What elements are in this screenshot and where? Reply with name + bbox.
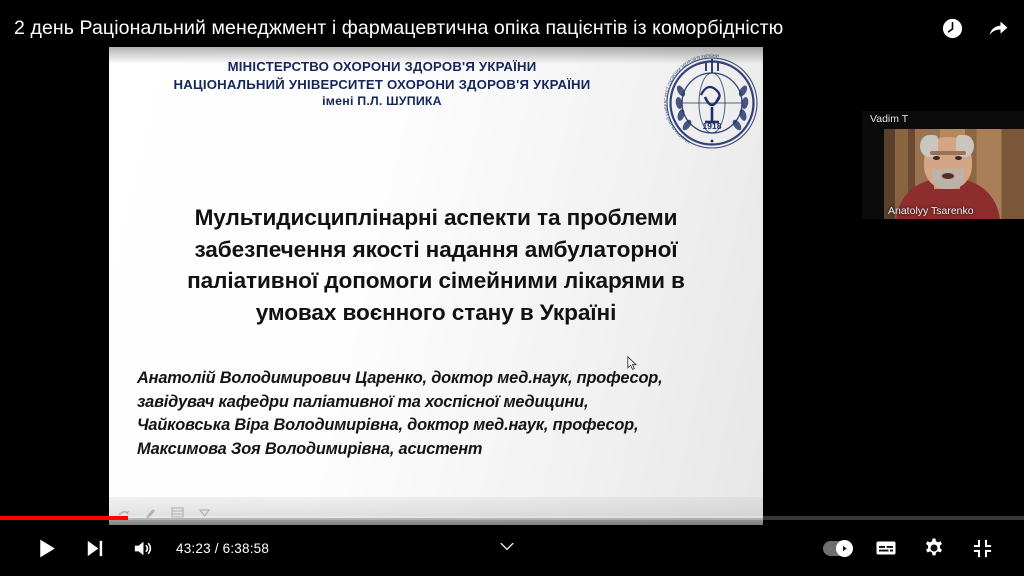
time-display: 43:23 / 6:38:58: [176, 541, 269, 556]
slide-title-line: умовах воєнного стану в Україні: [125, 297, 747, 329]
slide-title-line: забезпечення якості надання амбулаторної: [125, 234, 747, 266]
slide-author-line: Чайковська Віра Володимирівна, доктор ме…: [137, 414, 737, 438]
play-button[interactable]: [22, 530, 70, 566]
progress-played: [0, 516, 128, 520]
mouse-cursor: [627, 356, 638, 376]
next-video-button[interactable]: [70, 530, 118, 566]
player-controls-bar: 43:23 / 6:38:58: [0, 518, 1024, 576]
subtitles-button[interactable]: [862, 530, 910, 566]
slide-header: МІНІСТЕРСТВО ОХОРОНИ ЗДОРОВ'Я УКРАЇНИ НА…: [109, 58, 655, 111]
slide-title-line: Мультидисциплінарні аспекти та проблеми: [125, 202, 747, 234]
slide-author-line: Анатолій Володимирович Царенко, доктор м…: [137, 367, 737, 391]
slide-title: Мультидисциплінарні аспекти та проблеми …: [125, 202, 747, 328]
chevron-down-icon[interactable]: [497, 536, 517, 561]
slide-header-line2: НАЦІОНАЛЬНИЙ УНІВЕРСИТЕТ ОХОРОНИ ЗДОРОВ'…: [109, 76, 655, 94]
watch-later-icon[interactable]: [936, 12, 968, 44]
slide-authors: Анатолій Володимирович Царенко, доктор м…: [137, 367, 737, 461]
mute-button[interactable]: [118, 530, 166, 566]
autoplay-toggle[interactable]: [814, 530, 862, 566]
video-title: 2 день Раціональний менеджмент і фармаце…: [14, 16, 894, 40]
university-emblem: 1918 НАЦІОНАЛЬНИЙ УНІВЕРСИТЕТ ОХОРОНИ ЗД…: [661, 51, 763, 155]
settings-button[interactable]: [910, 530, 958, 566]
slide-header-line3: імені П.Л. ШУПИКА: [109, 93, 655, 111]
presentation-slide: МІНІСТЕРСТВО ОХОРОНИ ЗДОРОВ'Я УКРАЇНИ НА…: [109, 47, 763, 525]
slide-author-line: завідувач кафедри паліативної та хоспісн…: [137, 391, 737, 415]
progress-bar[interactable]: [0, 516, 1024, 520]
participant-overlay-name: Anatolyy Tsarenko: [884, 205, 1024, 217]
emblem-year: 1918: [703, 121, 722, 131]
slide-author-line: Максимова Зоя Володимирівна, асистент: [137, 438, 737, 462]
player-top-bar: 2 день Раціональний менеджмент і фармаце…: [0, 0, 1024, 64]
share-icon[interactable]: [982, 12, 1014, 44]
slide-title-line: паліативної допомоги сімейними лікарями …: [125, 265, 747, 297]
video-player-stage: МІНІСТЕРСТВО ОХОРОНИ ЗДОРОВ'Я УКРАЇНИ НА…: [0, 0, 1024, 576]
exit-fullscreen-button[interactable]: [958, 530, 1006, 566]
participant-video-tile[interactable]: Vadim T Anatolyy Tsarenko: [862, 111, 1024, 219]
participant-name-label: Vadim T: [870, 113, 908, 125]
